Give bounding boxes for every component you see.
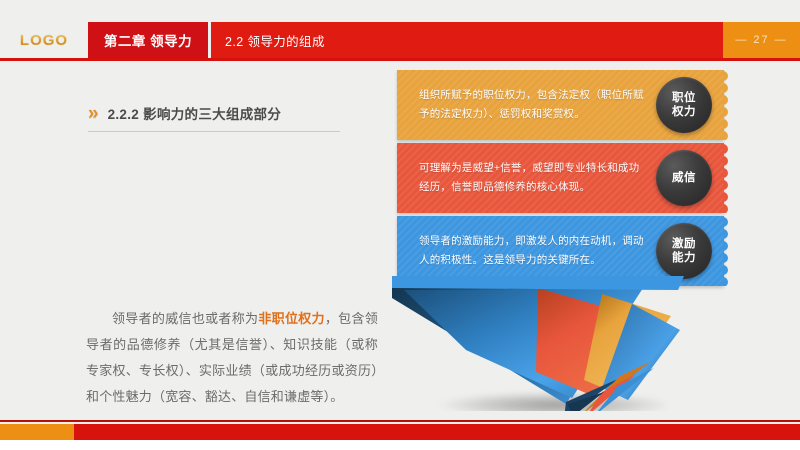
panel-badge: 职位 权力 [656,77,712,133]
slide-canvas: LOGO 第二章 领导力 2.2 领导力的组成 — 27 — » 2.2.2 影… [0,0,800,450]
footer-top-rule [0,420,800,422]
chapter-tab[interactable]: 第二章 领导力 [88,22,208,58]
page-number-label: — 27 — [735,34,787,46]
page-number-badge: — 27 — [723,22,800,58]
left-content-column: » 2.2.2 影响力的三大组成部分 领导者的威信也或者称为非职位权力，包含领导… [0,61,385,411]
panel-scallop-edge [723,70,733,140]
panel-position-power[interactable]: 组织所赋予的职位权力，包含法定权（职位所赋予的法定权力）、惩罚权和奖赏权。 职位… [397,70,724,140]
panel-badge-label: 威信 [672,171,696,185]
panel-scallop-edge [723,216,733,286]
panel-scallop-edge [723,143,733,213]
component-panel-list: 组织所赋予的职位权力，包含法定权（职位所赋予的法定权力）、惩罚权和奖赏权。 职位… [397,70,737,289]
section-label: 2.2 领导力的组成 [225,31,325,50]
footer-bar [0,424,800,440]
footer-accent-block [0,424,74,440]
heading-divider [88,131,340,132]
folded-chevron-ribbon [388,276,688,421]
footer-gap [0,411,800,420]
logo-text: LOGO [20,32,68,49]
panel-badge-label: 职位 权力 [672,91,696,119]
body-paragraph: 领导者的威信也或者称为非职位权力，包含领导者的品德修养（尤其是信誉）、知识技能（… [86,306,378,410]
section-bar[interactable]: 2.2 领导力的组成 [211,22,723,58]
panel-badge-label: 激励 能力 [672,237,696,265]
paragraph-lead: 领导者的威信也或者称为 [112,311,258,326]
top-margin-strip [0,0,800,22]
panel-badge: 威信 [656,150,712,206]
panel-description: 组织所赋予的职位权力，包含法定权（职位所赋予的法定权力）、惩罚权和奖赏权。 [419,86,647,124]
chapter-label: 第二章 领导力 [104,30,192,50]
panel-prestige[interactable]: 可理解为是威望+信誉，威望即专业特长和成功经历，信誉即品德修养的核心体现。 威信 [397,143,724,213]
panel-description: 领导者的激励能力，即激发人的内在动机，调动人的积极性。这是领导力的关键所在。 [419,232,647,270]
footer-base-strip [0,440,800,450]
logo-area[interactable]: LOGO [0,22,88,58]
panel-badge: 激励 能力 [656,223,712,279]
panel-description: 可理解为是威望+信誉，威望即专业特长和成功经历，信誉即品德修养的核心体现。 [419,159,647,197]
paragraph-highlight: 非职位权力 [258,311,325,326]
subsection-heading: » 2.2.2 影响力的三大组成部分 [88,103,281,123]
ribbon-top-cap [392,276,684,290]
double-chevron-icon: » [88,104,99,123]
slide-header: LOGO 第二章 领导力 2.2 领导力的组成 — 27 — [0,22,800,58]
subsection-heading-text: 2.2.2 影响力的三大组成部分 [108,103,282,123]
